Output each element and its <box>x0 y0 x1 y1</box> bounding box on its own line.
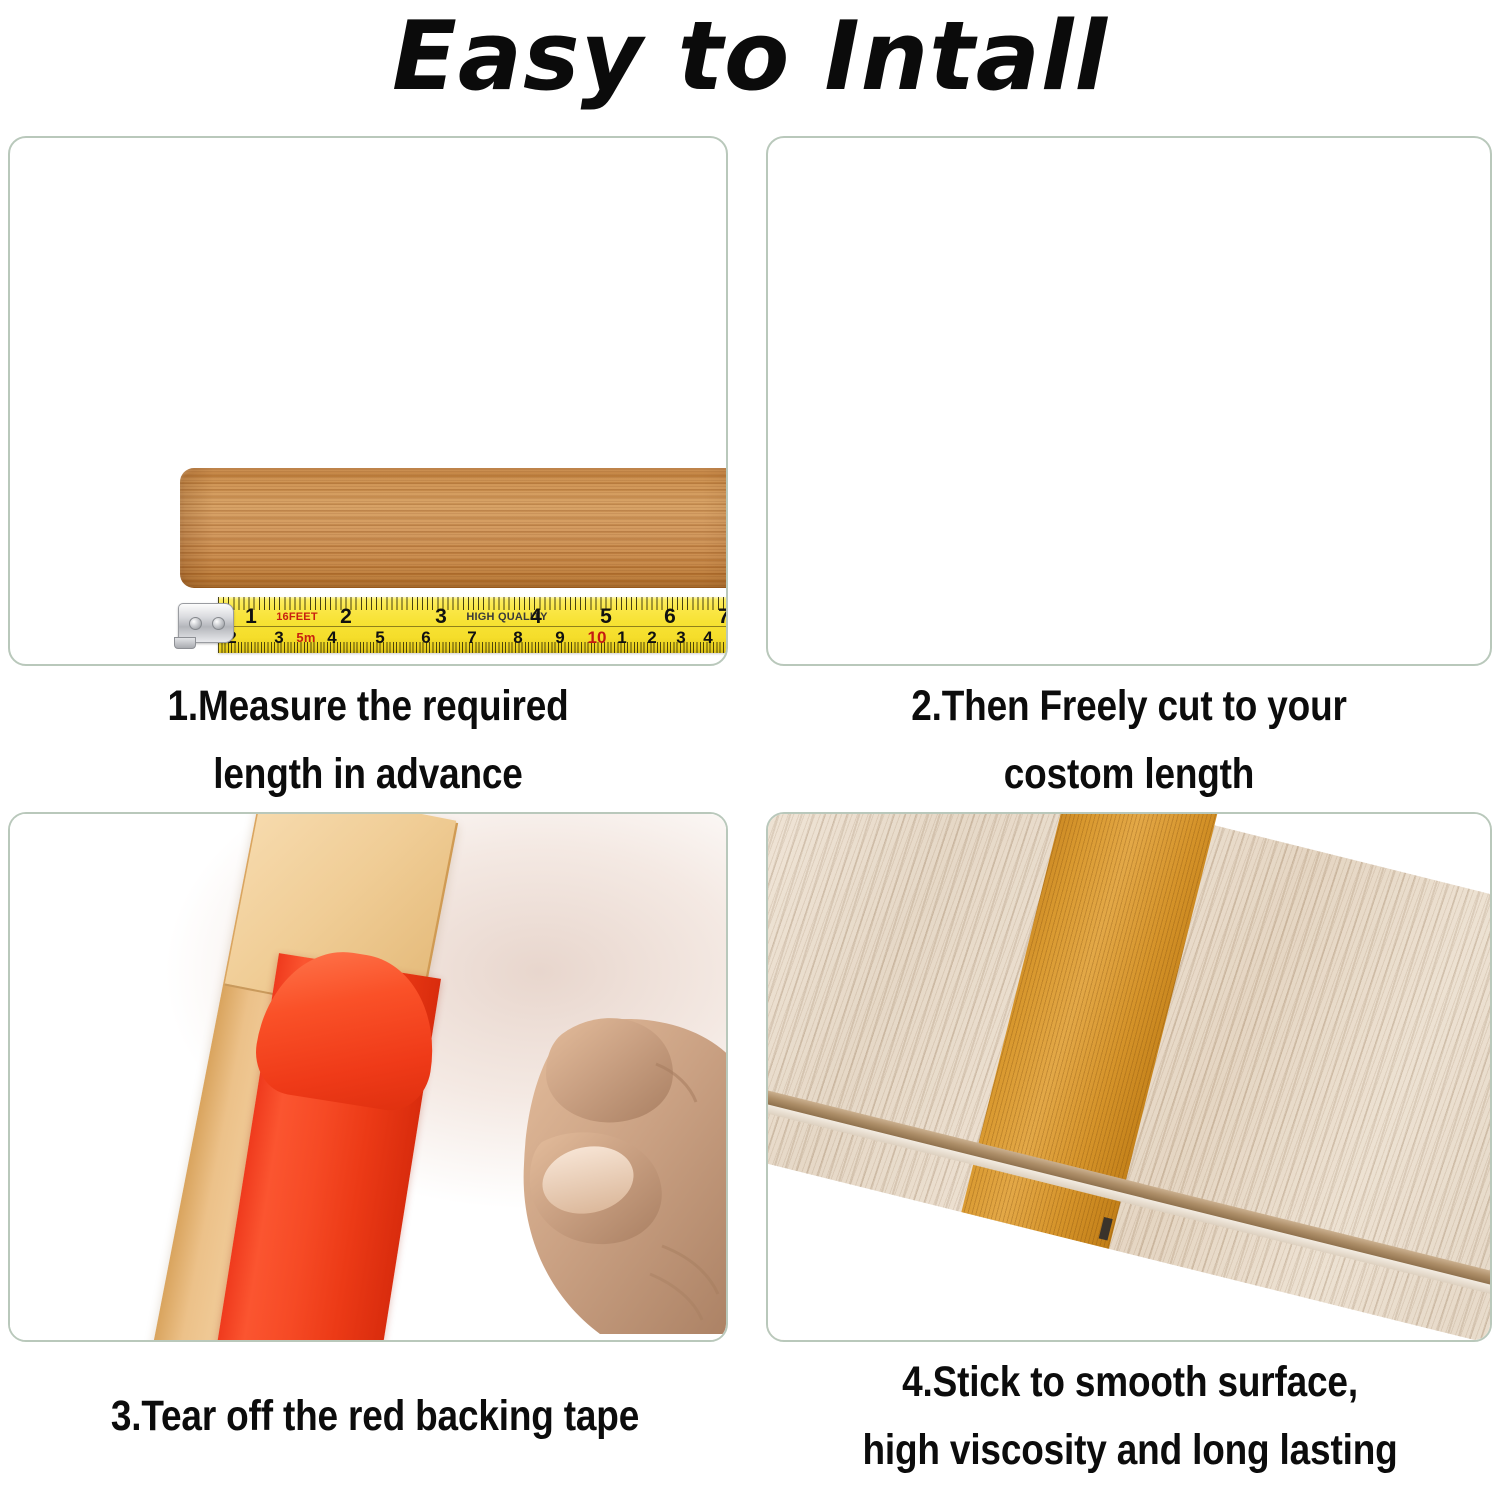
step-2-panel <box>766 136 1492 666</box>
step-4-caption: 4.Stick to smooth surface, high viscosit… <box>812 1348 1448 1484</box>
tape-blade <box>218 597 728 653</box>
tape-center-line <box>218 626 728 627</box>
tape-measure-image: 1 16FEET 2 3 HIGH QUALITY 4 5 6 7 2 3 5m… <box>170 597 728 653</box>
photo-background <box>768 814 1490 1340</box>
wood-trim-strip-image <box>180 468 728 588</box>
step-1-panel: 1 16FEET 2 3 HIGH QUALITY 4 5 6 7 2 3 5m… <box>8 136 728 666</box>
step-2-caption: 2.Then Freely cut to your costom length <box>817 672 1441 808</box>
step-4-panel <box>766 812 1492 1342</box>
tape-hook-tongue <box>174 637 196 649</box>
step-3-panel <box>8 812 728 1342</box>
page-title: Easy to Intall <box>0 2 1500 112</box>
step-1-caption: 1.Measure the required length in advance <box>58 672 677 808</box>
hook-rivet <box>189 617 202 630</box>
step-3-caption: 3.Tear off the red backing tape <box>53 1382 698 1450</box>
infographic-page: Easy to Intall 1 16FEET 2 3 HIGH QUALITY… <box>0 0 1500 1485</box>
hand-image <box>450 964 728 1342</box>
hook-rivet <box>212 617 225 630</box>
